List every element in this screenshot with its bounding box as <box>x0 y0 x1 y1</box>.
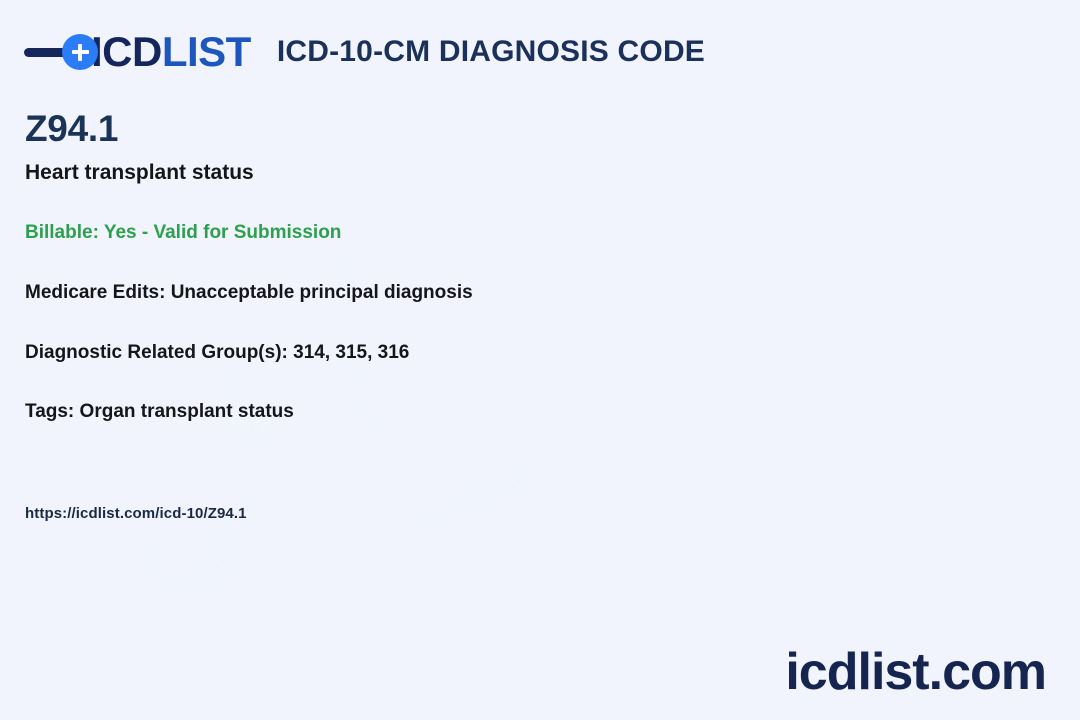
logo-wordmark: ICDLIST <box>91 31 251 73</box>
tags: Tags: Organ transplant status <box>25 400 785 424</box>
footer-brand: icdlist.com <box>785 646 1046 698</box>
diagnosis-description: Heart transplant status <box>25 160 785 185</box>
diagnosis-code: Z94.1 <box>25 110 785 149</box>
logo-word-icd: ICD <box>91 28 162 75</box>
diagnostic-related-groups: Diagnostic Related Group(s): 314, 315, 3… <box>25 341 785 365</box>
page-title: ICD-10-CM DIAGNOSIS CODE <box>277 35 705 69</box>
logo-word-list: LIST <box>162 28 251 75</box>
icd-code-card: ICDLIST ICD-10-CM DIAGNOSIS CODE Z94.1 H… <box>0 0 1080 720</box>
plus-icon <box>62 34 98 70</box>
billable-status: Billable: Yes - Valid for Submission <box>25 221 785 245</box>
medicare-edits: Medicare Edits: Unacceptable principal d… <box>25 281 785 305</box>
page-header: ICDLIST ICD-10-CM DIAGNOSIS CODE <box>24 26 705 78</box>
source-url-link[interactable]: https://icdlist.com/icd-10/Z94.1 <box>25 505 247 522</box>
code-details: Z94.1 Heart transplant status Billable: … <box>25 110 785 424</box>
icdlist-logo[interactable]: ICDLIST <box>24 26 251 78</box>
